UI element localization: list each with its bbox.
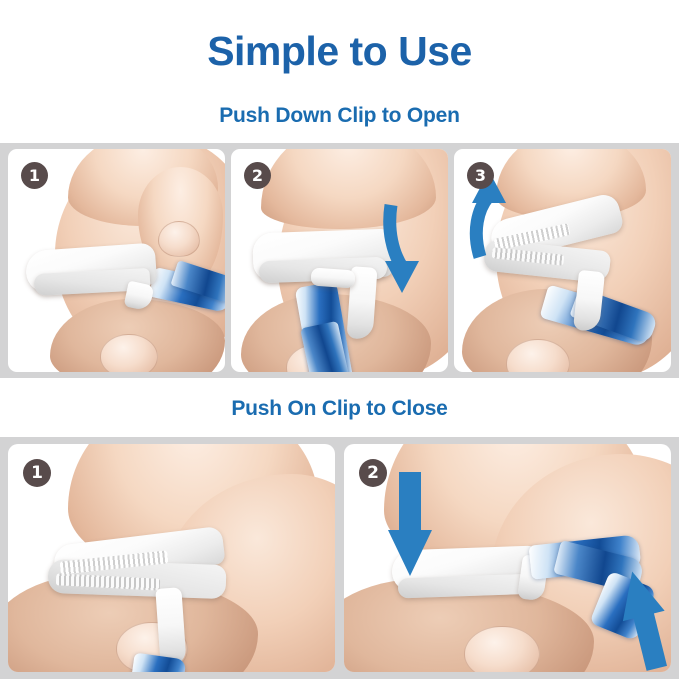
photo-close-1 [8, 444, 335, 672]
photo-close-2 [344, 444, 671, 672]
step-panel-close-1[interactable]: 1 [8, 444, 335, 672]
product-instruction-graphic: Simple to Use Push Down Clip to Open [0, 0, 679, 679]
step-panel-open-3[interactable]: 3 [454, 149, 671, 372]
page-title: Simple to Use [0, 0, 679, 72]
step-badge: 2 [359, 459, 387, 487]
steps-row-open: 1 [0, 143, 679, 378]
step-panel-open-1[interactable]: 1 [8, 149, 225, 372]
step-badge: 3 [467, 162, 494, 189]
arrow-up-straight [616, 564, 671, 672]
steps-row-close: 1 [0, 437, 679, 679]
section-title-open: Push Down Clip to Open [0, 72, 679, 126]
step-badge: 2 [244, 162, 271, 189]
section-title-close: Push On Clip to Close [0, 378, 679, 419]
step-badge: 1 [23, 459, 51, 487]
arrow-down-curved [377, 201, 437, 301]
arrow-down-straight [382, 472, 438, 582]
step-panel-open-2[interactable]: 2 [231, 149, 448, 372]
step-badge: 1 [21, 162, 48, 189]
step-panel-close-2[interactable]: 2 [344, 444, 671, 672]
